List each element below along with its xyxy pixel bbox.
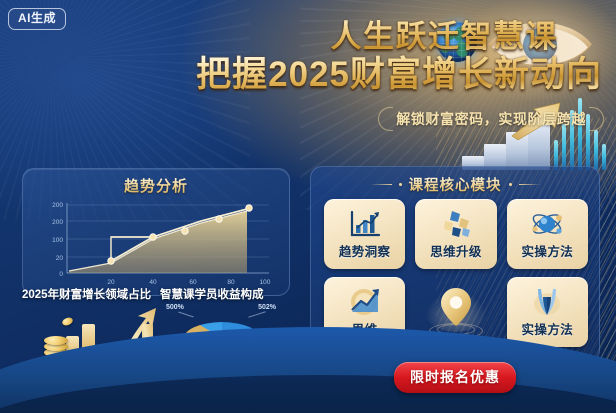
- location-pin-icon: [439, 286, 473, 332]
- poster-canvas: AI生成 人生跃迁智慧课: [0, 0, 616, 413]
- pie-label-2: 502%: [258, 304, 276, 311]
- module-label-trend-insight: 趋势洞察: [339, 241, 391, 260]
- chart-ytick-4: 200: [52, 202, 63, 209]
- headline-subtitle: 解锁财富密码，实现阶层跨越: [380, 105, 602, 133]
- chart-ytick-3: 200: [52, 219, 63, 226]
- title-dot-right: [509, 183, 512, 186]
- chart-xtick-4: 100: [260, 279, 271, 286]
- module-card-mindset-upgrade[interactable]: 思维升级: [415, 199, 496, 269]
- module-label-mindset-upgrade: 思维升级: [430, 241, 482, 260]
- puzzle-icon: [438, 208, 474, 240]
- headline-block: 人生跃迁智慧课 把握2025财富增长新动向 解锁财富密码，实现阶层跨越: [196, 20, 602, 133]
- headline-line-2: 把握2025财富增长新动向: [196, 55, 602, 94]
- chart-xtick-3: 80: [227, 279, 235, 286]
- title-dash-right: [519, 184, 541, 185]
- chart-ytick-1: 20: [56, 255, 64, 262]
- chart-xtick-1: 40: [149, 279, 157, 286]
- pie-leader-line-1: [178, 312, 194, 318]
- leaf-check-icon: [529, 286, 565, 318]
- trend-line-chart: 200 200 100 20 0 20 40 60 80 100: [33, 197, 283, 289]
- module-label-practical-method-2: 实操方法: [522, 319, 574, 338]
- bar-chart-icon: [347, 208, 383, 240]
- coin-stack-a4: [44, 336, 68, 345]
- ai-generated-badge: AI生成: [8, 8, 66, 30]
- core-modules-title: 课程核心模块: [409, 174, 502, 195]
- income-structure-label: 智慧课学员收益构成: [160, 288, 288, 302]
- chart-ytick-0: 0: [59, 271, 63, 278]
- chart-xtick-2: 60: [189, 279, 197, 286]
- module-card-trend-insight[interactable]: 趋势洞察: [324, 199, 405, 269]
- cta-enroll-button[interactable]: 限时报名优惠: [394, 362, 516, 393]
- module-grid: 趋势洞察 思维升级: [324, 199, 588, 347]
- module-card-practical-method-1[interactable]: 实操方法: [507, 199, 588, 269]
- pie-label-1: 500%: [166, 304, 184, 311]
- chart-xtick-0: 20: [107, 279, 115, 286]
- pie-leader-line-2: [248, 311, 265, 318]
- title-dot-left: [399, 183, 402, 186]
- floating-coin: [61, 316, 74, 327]
- chart-ytick-2: 100: [52, 237, 63, 244]
- module-label-practical-method-1: 实操方法: [522, 241, 574, 260]
- atom-icon: [529, 208, 565, 240]
- trend-analysis-title: 趋势分析: [23, 175, 289, 196]
- growth-arrow-icon: [347, 286, 383, 318]
- trend-analysis-card: 趋势分析: [22, 168, 290, 296]
- module-card-practical-method-2[interactable]: 实操方法: [507, 277, 588, 347]
- headline-line-1: 人生跃迁智慧课: [196, 20, 602, 53]
- core-modules-title-row: 课程核心模块: [311, 174, 599, 195]
- title-dash-left: [370, 184, 392, 185]
